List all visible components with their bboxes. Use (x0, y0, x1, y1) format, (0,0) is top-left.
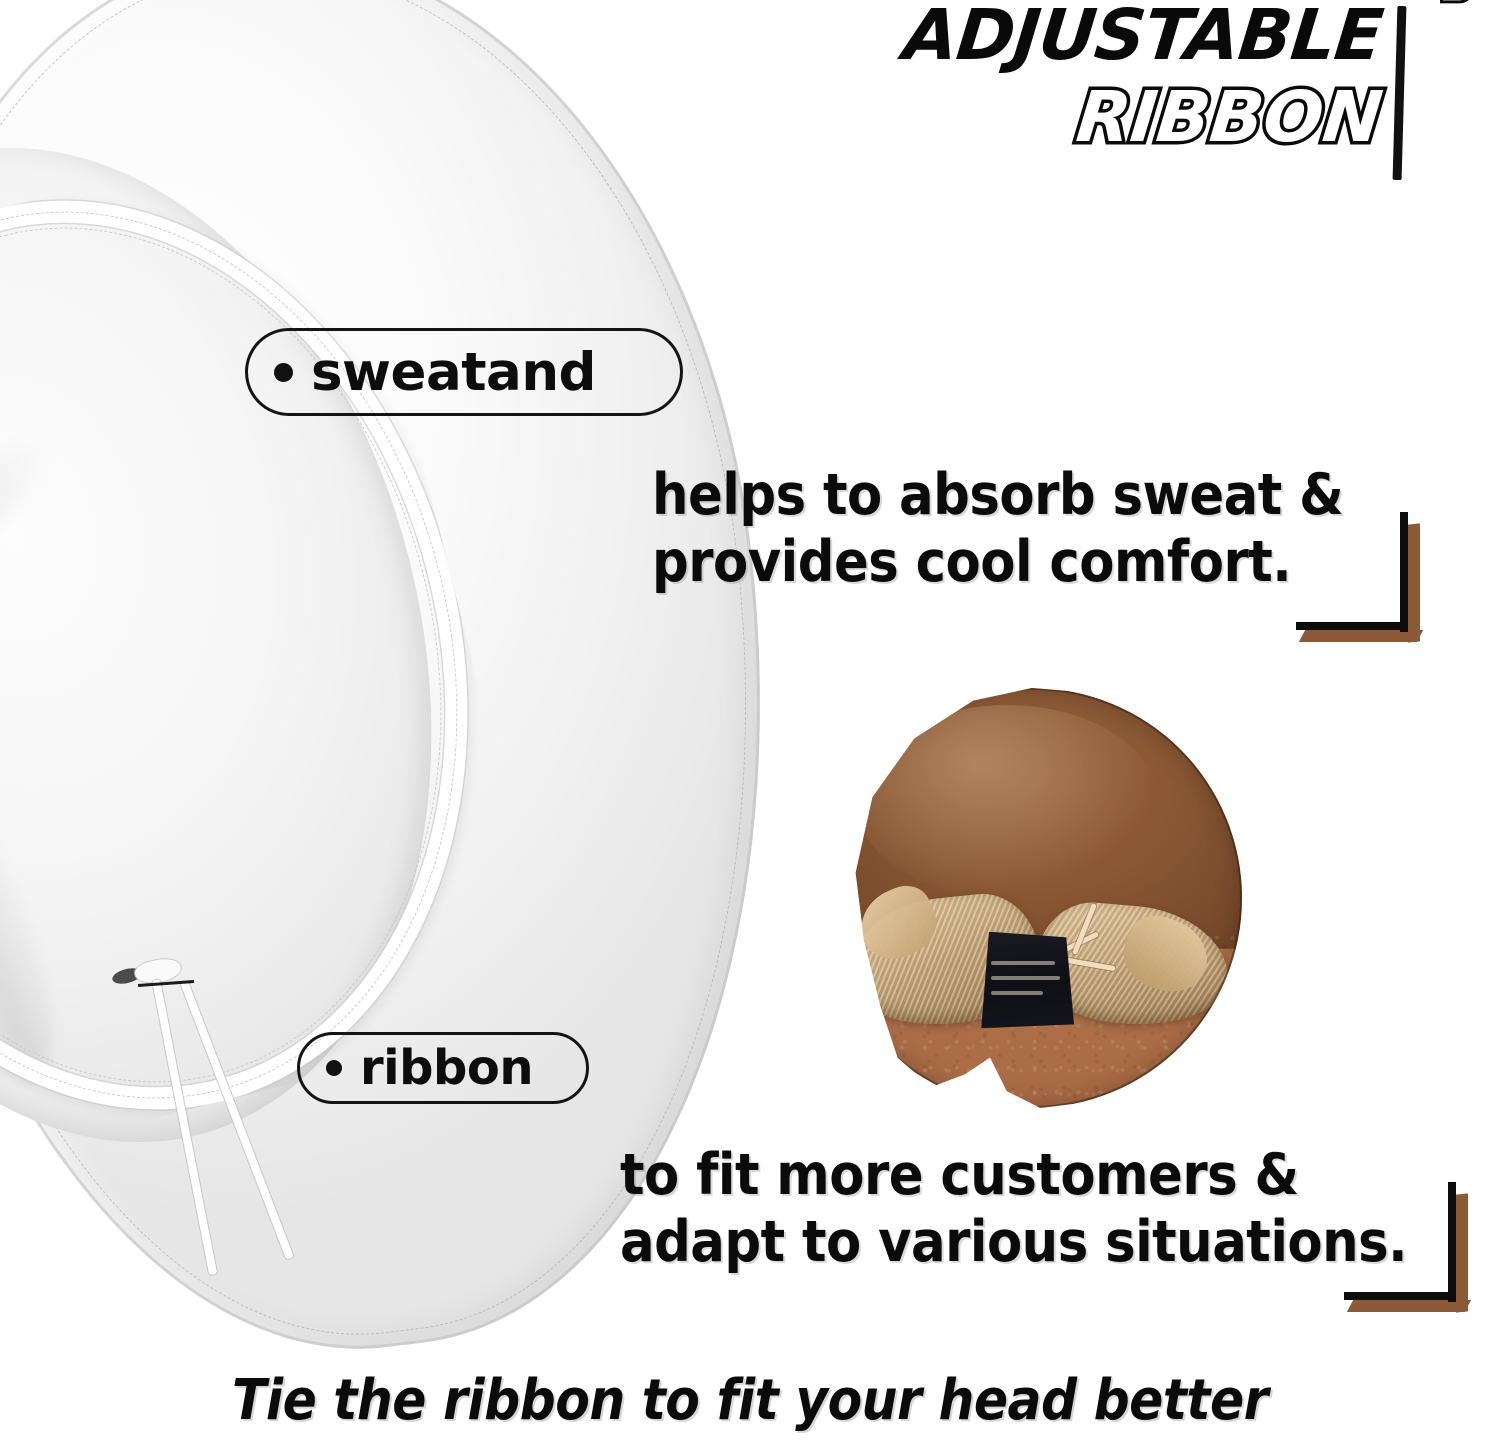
bullet-dot-icon (326, 1060, 342, 1076)
bracket-bar-horizontal (1296, 622, 1408, 630)
bracket-shadow-vertical (1456, 1193, 1468, 1312)
bottom-tagline: Tie the ribbon to fit your head better (0, 1368, 1500, 1433)
title-ribbon: RIBBON (900, 82, 1385, 152)
inset-circle-outline (822, 688, 1242, 1108)
bracket-bar-horizontal (1344, 1292, 1456, 1300)
title-adjustable: ADJUSTABLE (900, 0, 1385, 70)
bracket-bar-vertical (1448, 1182, 1456, 1302)
callout-label-ribbon: ribbon (360, 1044, 533, 1092)
infographic-canvas: ADJUSTABLE RIBBON design sweatand ribbon… (0, 0, 1500, 1447)
header-title-block: ADJUSTABLE RIBBON design (718, 0, 1478, 200)
title-divider-bar (1393, 6, 1407, 180)
feature-line: provides cool comfort. (652, 529, 1412, 596)
title-design-vertical: design (1436, 0, 1482, 4)
callout-pill-sweatand[interactable]: sweatand (245, 328, 683, 416)
title-lines: ADJUSTABLE RIBBON (904, 0, 1382, 152)
bullet-dot-icon (274, 363, 293, 382)
bracket-shadow-vertical (1408, 523, 1420, 642)
bracket-bar-vertical (1400, 512, 1408, 632)
feature-line: helps to absorb sweat & (652, 462, 1412, 529)
corner-bracket-decoration (1348, 1182, 1468, 1312)
callout-label-sweatand: sweatand (311, 346, 596, 399)
inset-product-image (822, 688, 1242, 1108)
callout-pill-ribbon[interactable]: ribbon (297, 1032, 589, 1104)
corner-bracket-decoration (1300, 512, 1420, 642)
feature-text-sweatband: helps to absorb sweat & provides cool co… (652, 462, 1412, 597)
